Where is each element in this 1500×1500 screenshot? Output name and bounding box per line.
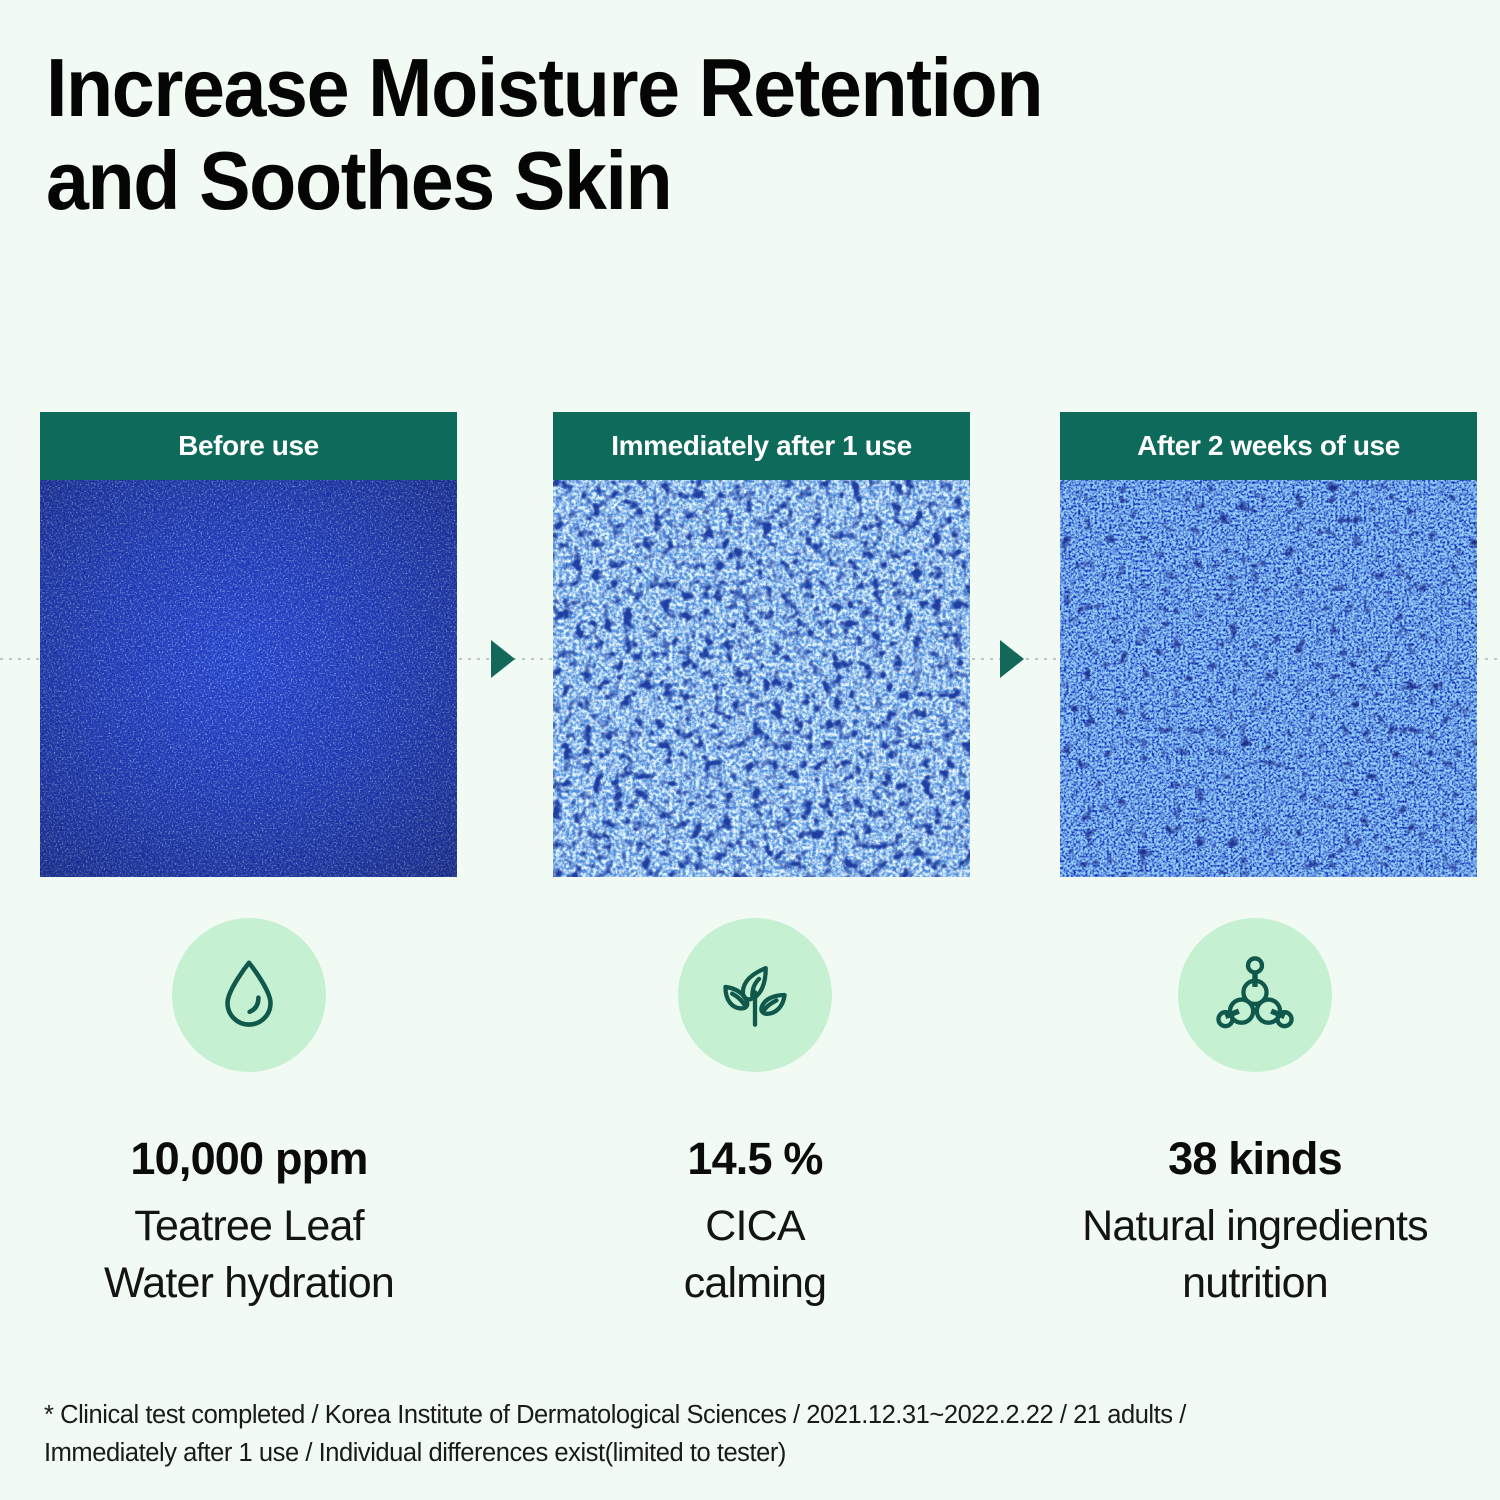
feature-stat-value: 10,000 ppm	[14, 1132, 484, 1186]
feature-hydration: 10,000 ppm Teatree Leaf Water hydration	[14, 918, 484, 1312]
feature-icon-badge	[678, 918, 832, 1072]
skin-moisture-microscopy-before	[40, 480, 457, 877]
feature-stat-value: 38 kinds	[1020, 1132, 1490, 1186]
panel-header-label: After 2 weeks of use	[1137, 430, 1400, 462]
water-droplet-icon	[206, 952, 292, 1038]
feature-icon-badge	[172, 918, 326, 1072]
feature-description: CICA calming	[520, 1198, 990, 1312]
arrow-right-2-icon	[1000, 640, 1024, 678]
panel-header-label: Immediately after 1 use	[611, 430, 912, 462]
comparison-panel-before: Before use	[40, 412, 457, 877]
comparison-panel-after-1-use: Immediately after 1 use	[553, 412, 970, 877]
panel-header-label: Before use	[178, 430, 319, 462]
molecule-icon	[1212, 952, 1298, 1038]
feature-icon-badge	[1178, 918, 1332, 1072]
arrow-right-1-icon	[491, 640, 515, 678]
feature-description: Teatree Leaf Water hydration	[14, 1198, 484, 1312]
feature-stat-value: 14.5 %	[520, 1132, 990, 1186]
panel-header-before: Before use	[40, 412, 457, 480]
page-title: Increase Moisture Retention and Soothes …	[46, 42, 1255, 228]
infographic-page: Increase Moisture Retention and Soothes …	[0, 0, 1500, 1500]
clinical-test-footnote: * Clinical test completed / Korea Instit…	[44, 1396, 1364, 1473]
feature-calming: 14.5 % CICA calming	[520, 918, 990, 1312]
comparison-panel-after-2-weeks: After 2 weeks of use	[1060, 412, 1477, 877]
leaf-sprout-icon	[712, 952, 798, 1038]
feature-nutrition: 38 kinds Natural ingredients nutrition	[1020, 918, 1490, 1312]
panel-header-after-2-weeks: After 2 weeks of use	[1060, 412, 1477, 480]
feature-description: Natural ingredients nutrition	[1020, 1198, 1490, 1312]
skin-moisture-microscopy-after-1-use	[553, 480, 970, 877]
panel-header-after-1-use: Immediately after 1 use	[553, 412, 970, 480]
skin-moisture-microscopy-after-2-weeks	[1060, 480, 1477, 877]
